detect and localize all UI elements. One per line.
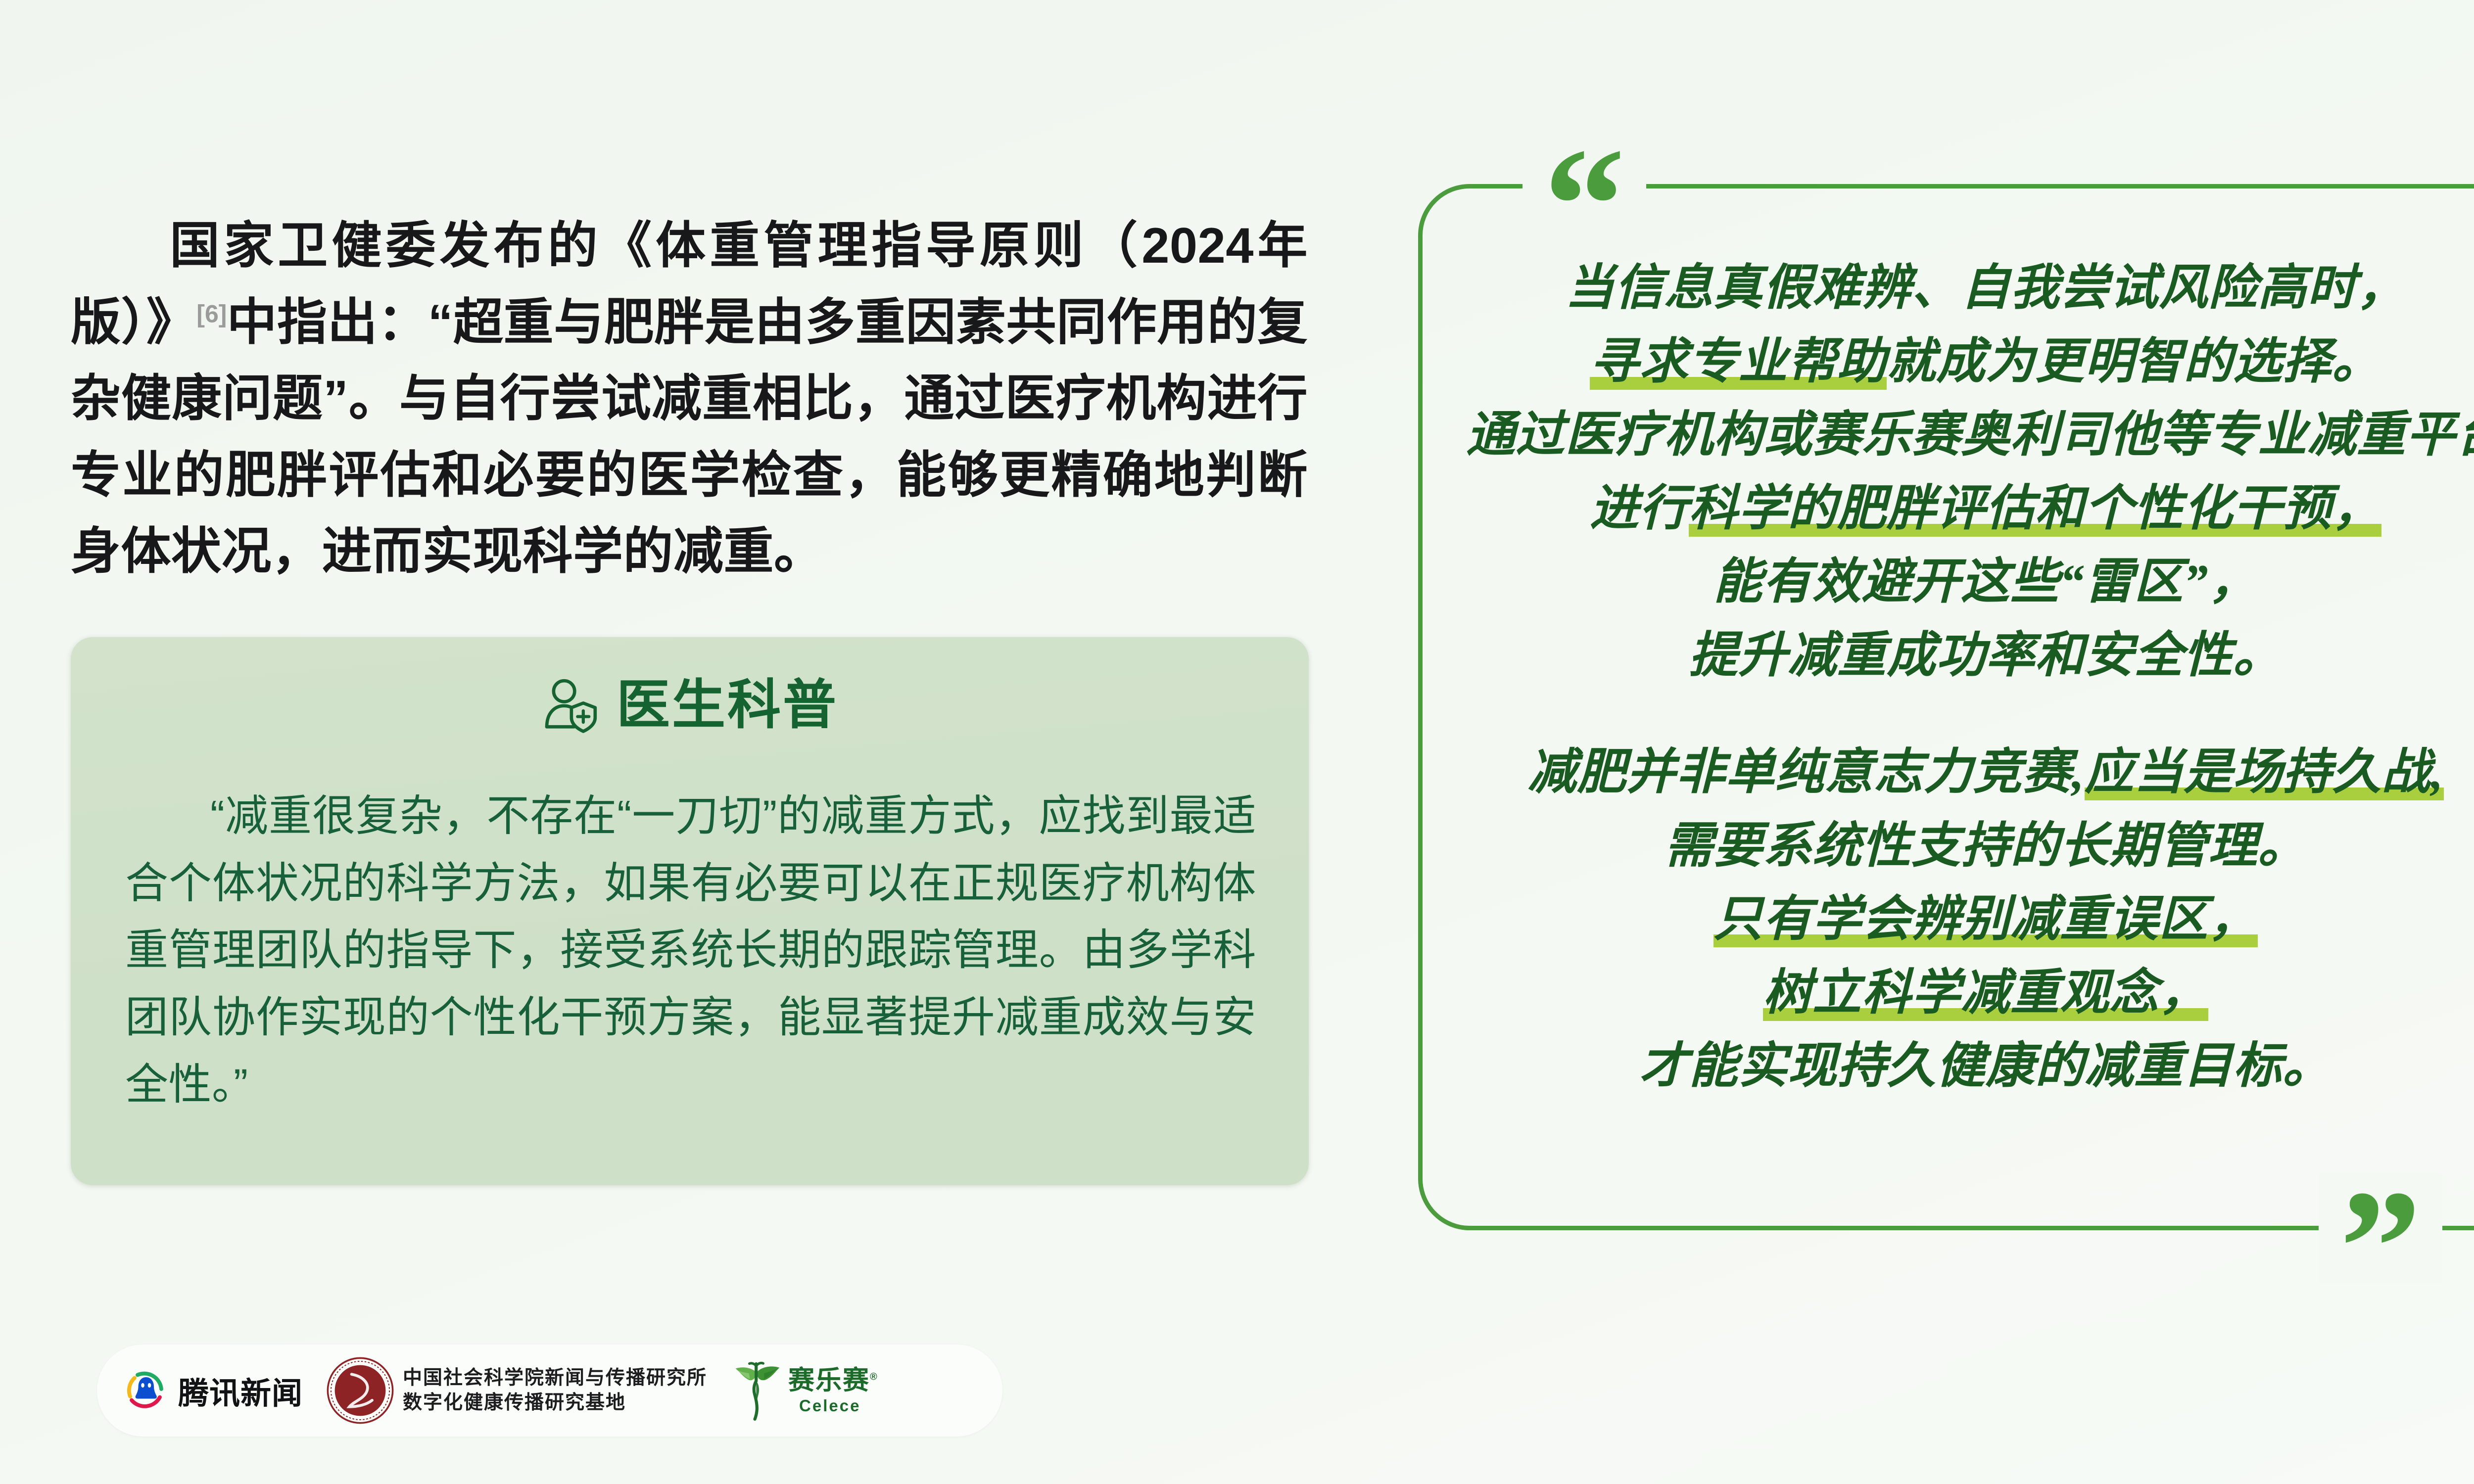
tencent-penguin-icon (123, 1367, 170, 1414)
footer-logo-bar: 腾讯新闻 中国社会科学院新闻与传播研究所 数字化健康传播研究基地 (97, 1345, 1002, 1437)
quote-text-segment: 减肥并非单纯意志力竞赛, (1527, 745, 2085, 799)
celece-brand-logo[interactable]: 赛乐赛® Celece (730, 1359, 878, 1422)
quote-line: 进行科学的肥胖评估和个性化干预， (1452, 472, 2474, 546)
intro-text-part2: 中指出：“超重与肥胖是由多重因素共同作用的复杂健康问题”。与自行尝试减重相比，通… (71, 295, 1308, 580)
celece-winged-figure-icon (730, 1359, 783, 1422)
intro-paragraph: 国家卫健委发布的《体重管理指导原则（2024年版）》[6]中指出：“超重与肥胖是… (71, 208, 1308, 590)
opening-quote-icon: “ (1522, 130, 1646, 244)
quote-text-segment: 就成为更明智的选择。 (1887, 335, 2381, 389)
celece-text-block: 赛乐赛® Celece (788, 1367, 878, 1414)
quote-highlight-segment: 应当是场持久战, (2085, 745, 2444, 800)
doctor-card-title: 医生科普 (617, 678, 838, 732)
doctor-card-body-text: “减重很复杂，不存在“一刀切”的减重方式，应找到最适合个体状况的科学方法，如果有… (125, 783, 1256, 1118)
quote-text-segment: 提升减重成功率和安全性。 (1689, 629, 2283, 683)
quote-text-segment: 才能实现持久健康的减重目标。 (1639, 1039, 2332, 1093)
quote-line: 减肥并非单纯意志力竞赛,应当是场持久战, (1452, 736, 2474, 810)
doctor-science-card: 医生科普 “减重很复杂，不存在“一刀切”的减重方式，应找到最适合个体状况的科学方… (71, 637, 1309, 1185)
cass-seal-icon (326, 1356, 395, 1425)
celece-english-name: Celece (799, 1397, 860, 1414)
quote-body: 当信息真假难辨、自我尝试风险高时，寻求专业帮助就成为更明智的选择。通过医疗机构或… (1452, 252, 2474, 1104)
closing-quote-icon: ” (2319, 1172, 2442, 1283)
quote-text-segment: 能有效避开这些“雷区”， (1713, 555, 2258, 609)
page-canvas: 国家卫健委发布的《体重管理指导原则（2024年版）》[6]中指出：“超重与肥胖是… (0, 0, 2474, 1484)
quote-highlight-segment: 树立科学减重观念， (1763, 966, 2208, 1021)
celece-chinese-name: 赛乐赛® (788, 1367, 878, 1393)
quote-text-segment: 通过医疗机构或赛乐赛奥利司他等专业减重平台 (1466, 408, 2474, 462)
quote-line: 需要系统性支持的长期管理。 (1452, 810, 2474, 883)
quote-line: 提升减重成功率和安全性。 (1452, 619, 2474, 693)
tencent-news-logo[interactable]: 腾讯新闻 (123, 1367, 303, 1414)
quote-text-segment: 当信息真假难辨、自我尝试风险高时， (1565, 261, 2406, 315)
quote-paragraph: 当信息真假难辨、自我尝试风险高时，寻求专业帮助就成为更明智的选择。通过医疗机构或… (1452, 252, 2474, 693)
cass-label-lines: 中国社会科学院新闻与传播研究所 数字化健康传播研究基地 (403, 1368, 707, 1413)
quote-line: 当信息真假难辨、自我尝试风险高时， (1452, 252, 2474, 325)
quote-highlight-segment: 科学的肥胖评估和个性化干预， (1689, 482, 2381, 537)
quote-line: 只有学会辨别减重误区， (1452, 883, 2474, 957)
quote-text-segment: 需要系统性支持的长期管理。 (1664, 819, 2307, 873)
quote-paragraph: 减肥并非单纯意志力竞赛,应当是场持久战,需要系统性支持的长期管理。只有学会辨别减… (1452, 736, 2474, 1104)
doctor-card-header: 医生科普 (71, 676, 1309, 734)
quote-line: 能有效避开这些“雷区”， (1452, 546, 2474, 619)
quote-line: 寻求专业帮助就成为更明智的选择。 (1452, 325, 2474, 399)
quote-highlight-segment: 只有学会辨别减重误区， (1713, 892, 2258, 947)
cass-label-line2: 数字化健康传播研究基地 (403, 1393, 707, 1413)
quote-line: 树立科学减重观念， (1452, 957, 2474, 1030)
quote-highlight-segment: 寻求专业帮助 (1590, 335, 1887, 390)
quote-text-segment: 进行 (1590, 482, 1689, 536)
quote-line: 才能实现持久健康的减重目标。 (1452, 1030, 2474, 1104)
cass-institute-logo[interactable]: 中国社会科学院新闻与传播研究所 数字化健康传播研究基地 (326, 1356, 707, 1425)
tencent-news-label: 腾讯新闻 (178, 1368, 303, 1413)
left-column: 国家卫健委发布的《体重管理指导原则（2024年版）》[6]中指出：“超重与肥胖是… (0, 0, 1371, 1484)
quote-line: 通过医疗机构或赛乐赛奥利司他等专业减重平台 (1452, 399, 2474, 472)
cass-label-line1: 中国社会科学院新闻与传播研究所 (403, 1368, 707, 1389)
quote-paragraph-gap (1452, 693, 2474, 736)
person-shield-medical-icon (541, 676, 600, 734)
registered-mark: ® (870, 1371, 878, 1382)
citation-reference: [6] (196, 300, 227, 327)
quote-panel: “ 当信息真假难辨、自我尝试风险高时，寻求专业帮助就成为更明智的选择。通过医疗机… (1418, 184, 2474, 1230)
